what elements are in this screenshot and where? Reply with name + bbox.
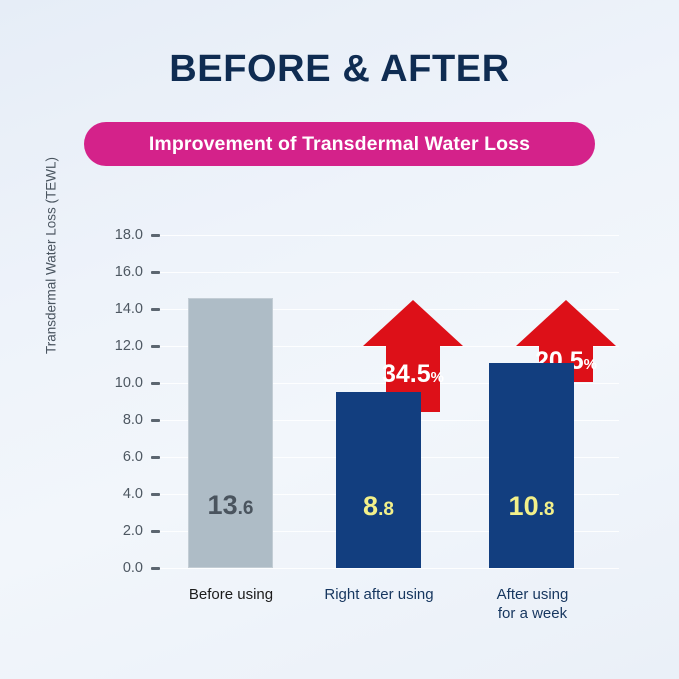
y-tick-label-6: 6.0 bbox=[95, 449, 143, 465]
y-tick-label-0: 0.0 bbox=[95, 560, 143, 576]
x-axis-label-line1: After using bbox=[455, 585, 610, 604]
y-tick-mark bbox=[151, 308, 160, 311]
bar-value-integer: 10 bbox=[509, 491, 539, 521]
bar-value-label: 8.8 bbox=[336, 493, 421, 520]
bar-value-decimal: .8 bbox=[539, 499, 555, 520]
y-tick-mark bbox=[151, 530, 160, 533]
y-tick-label-2: 2.0 bbox=[95, 523, 143, 539]
bar-value-decimal: .8 bbox=[378, 499, 394, 520]
x-axis-label-before-using: Before using bbox=[160, 585, 302, 604]
x-axis-label-after-using-week: After using for a week bbox=[455, 585, 610, 623]
y-tick-label-14: 14.0 bbox=[95, 301, 143, 317]
y-tick-mark bbox=[151, 271, 160, 274]
arrow-percent-sign: % bbox=[584, 356, 597, 373]
y-tick-mark bbox=[151, 567, 160, 570]
y-tick-mark bbox=[151, 493, 160, 496]
y-tick-label-18: 18.0 bbox=[95, 227, 143, 243]
bar-value-integer: 13 bbox=[208, 490, 238, 520]
y-tick-label-10: 10.0 bbox=[95, 375, 143, 391]
bar-chart: Transdermal Water Loss (TEWL) 18.0 16.0 … bbox=[0, 0, 679, 679]
y-tick-mark bbox=[151, 345, 160, 348]
x-axis-label-right-after-using: Right after using bbox=[300, 585, 458, 604]
gridline bbox=[155, 568, 619, 569]
bar-before-using[interactable]: 13.6 bbox=[188, 298, 273, 568]
bar-value-label: 10.8 bbox=[489, 493, 574, 520]
bar-value-decimal: .6 bbox=[238, 498, 254, 519]
arrow-percent-sign: % bbox=[431, 369, 444, 386]
gridline bbox=[155, 272, 619, 273]
bar-value-label: 13.6 bbox=[189, 492, 272, 519]
y-tick-label-4: 4.0 bbox=[95, 486, 143, 502]
bar-after-using-week[interactable]: 10.8 bbox=[489, 363, 574, 568]
y-tick-mark bbox=[151, 382, 160, 385]
bar-right-after-using[interactable]: 8.8 bbox=[336, 392, 421, 568]
arrow-label: 34.5% bbox=[363, 362, 463, 387]
arrow-value: 34.5 bbox=[382, 360, 431, 388]
y-tick-label-16: 16.0 bbox=[95, 264, 143, 280]
y-tick-label-12: 12.0 bbox=[95, 338, 143, 354]
x-axis-label-line2: for a week bbox=[455, 604, 610, 623]
gridline bbox=[155, 235, 619, 236]
y-tick-mark bbox=[151, 456, 160, 459]
bar-value-integer: 8 bbox=[363, 491, 378, 521]
y-tick-mark bbox=[151, 419, 160, 422]
y-tick-mark bbox=[151, 234, 160, 237]
infographic-poster: BEFORE & AFTER Improvement of Transderma… bbox=[0, 0, 679, 679]
y-axis-title: Transdermal Water Loss (TEWL) bbox=[44, 101, 59, 411]
y-tick-label-8: 8.0 bbox=[95, 412, 143, 428]
